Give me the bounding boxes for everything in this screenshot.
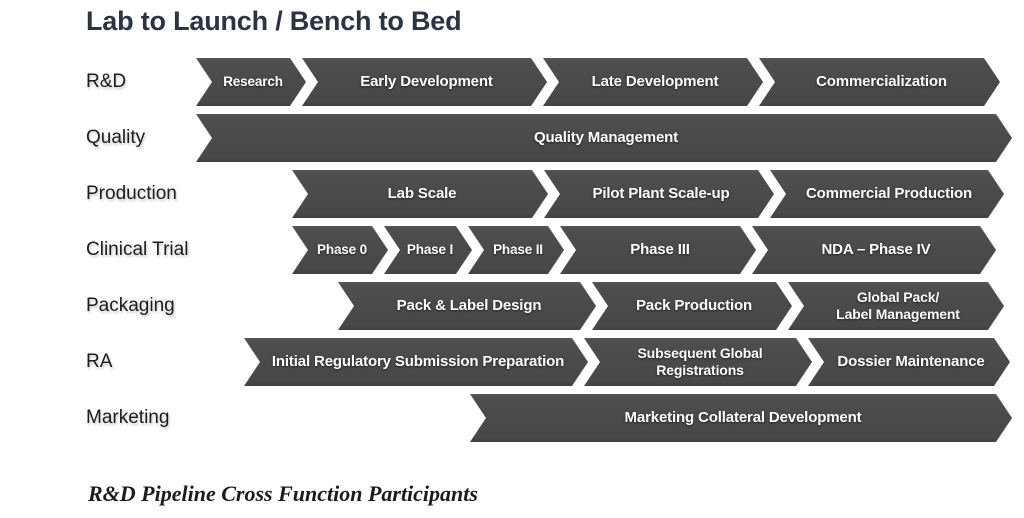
chart-caption: R&D Pipeline Cross Function Participants	[88, 481, 478, 507]
swimlane-track: Marketing Collateral Development	[470, 394, 996, 442]
stage-label: Pack & Label Design	[375, 297, 560, 315]
stage-label: Research	[207, 74, 295, 90]
stage-label: Commercialization	[794, 73, 965, 91]
stage-label: Global Pack/ Label Management	[814, 289, 978, 322]
pipeline-swimlane-chart: R&DResearchEarly DevelopmentLate Develop…	[0, 58, 1024, 468]
stage-label: Dossier Maintenance	[815, 353, 1002, 371]
swimlane-track: Initial Regulatory Submission Preparatio…	[244, 338, 996, 386]
stage-label: Phase III	[608, 241, 708, 259]
swimlane-track: Pack & Label DesignPack ProductionGlobal…	[338, 282, 996, 330]
swimlane-row: QualityQuality Management	[0, 114, 1024, 162]
stage-chevron[interactable]: Quality Management	[196, 114, 1012, 162]
swimlane-track: Quality Management	[196, 114, 996, 162]
stage-label: Early Development	[338, 73, 511, 91]
swimlane-row-label: Quality	[86, 114, 145, 162]
stage-chevron[interactable]: Pack & Label Design	[338, 282, 596, 330]
swimlane-row-label: RA	[86, 338, 112, 386]
stage-chevron[interactable]: Late Development	[543, 58, 763, 106]
stage-label: NDA – Phase IV	[799, 241, 948, 259]
swimlane-track: ResearchEarly DevelopmentLate Developmen…	[196, 58, 996, 106]
swimlane-track: Phase 0Phase IPhase IIPhase IIINDA – Pha…	[292, 226, 996, 274]
stage-label: Pilot Plant Scale-up	[570, 185, 747, 203]
stage-label: Phase 0	[301, 242, 379, 258]
stage-label: Phase II	[477, 242, 555, 258]
stage-label: Quality Management	[512, 129, 696, 147]
stage-chevron[interactable]: Phase II	[468, 226, 564, 274]
stage-label: Pack Production	[614, 297, 770, 315]
swimlane-row-label: Clinical Trial	[86, 226, 188, 274]
stage-label: Subsequent Global Registrations	[615, 345, 780, 378]
stage-chevron[interactable]: Commercialization	[759, 58, 1000, 106]
stage-chevron[interactable]: Marketing Collateral Development	[470, 394, 1012, 442]
swimlane-row: ProductionLab ScalePilot Plant Scale-upC…	[0, 170, 1024, 218]
stage-label: Initial Regulatory Submission Preparatio…	[250, 353, 582, 371]
stage-chevron[interactable]: Phase I	[384, 226, 472, 274]
stage-chevron[interactable]: Initial Regulatory Submission Preparatio…	[244, 338, 588, 386]
stage-label: Lab Scale	[366, 185, 475, 203]
stage-label: Commercial Production	[784, 185, 990, 203]
stage-label: Phase I	[391, 242, 465, 258]
stage-chevron[interactable]: NDA – Phase IV	[752, 226, 996, 274]
stage-chevron[interactable]: Commercial Production	[770, 170, 1004, 218]
stage-chevron[interactable]: Global Pack/ Label Management	[788, 282, 1004, 330]
swimlane-row-label: Packaging	[86, 282, 175, 330]
swimlane-row: R&DResearchEarly DevelopmentLate Develop…	[0, 58, 1024, 106]
stage-chevron[interactable]: Pilot Plant Scale-up	[544, 170, 774, 218]
stage-chevron[interactable]: Early Development	[302, 58, 547, 106]
stage-chevron[interactable]: Subsequent Global Registrations	[584, 338, 812, 386]
swimlane-row: Clinical TrialPhase 0Phase IPhase IIPhas…	[0, 226, 1024, 274]
page-title: Lab to Launch / Bench to Bed	[86, 6, 461, 37]
swimlane-row-label: Production	[86, 170, 177, 218]
stage-label: Marketing Collateral Development	[603, 409, 880, 427]
stage-chevron[interactable]: Dossier Maintenance	[808, 338, 1010, 386]
stage-label: Late Development	[570, 73, 737, 91]
swimlane-row: MarketingMarketing Collateral Developmen…	[0, 394, 1024, 442]
stage-chevron[interactable]: Pack Production	[592, 282, 792, 330]
stage-chevron[interactable]: Research	[196, 58, 306, 106]
swimlane-row-label: Marketing	[86, 394, 169, 442]
stage-chevron[interactable]: Phase 0	[292, 226, 388, 274]
stage-chevron[interactable]: Lab Scale	[292, 170, 548, 218]
swimlane-row-label: R&D	[86, 58, 126, 106]
stage-chevron[interactable]: Phase III	[560, 226, 756, 274]
swimlane-row: RAInitial Regulatory Submission Preparat…	[0, 338, 1024, 386]
swimlane-row: PackagingPack & Label DesignPack Product…	[0, 282, 1024, 330]
swimlane-track: Lab ScalePilot Plant Scale-upCommercial …	[292, 170, 996, 218]
